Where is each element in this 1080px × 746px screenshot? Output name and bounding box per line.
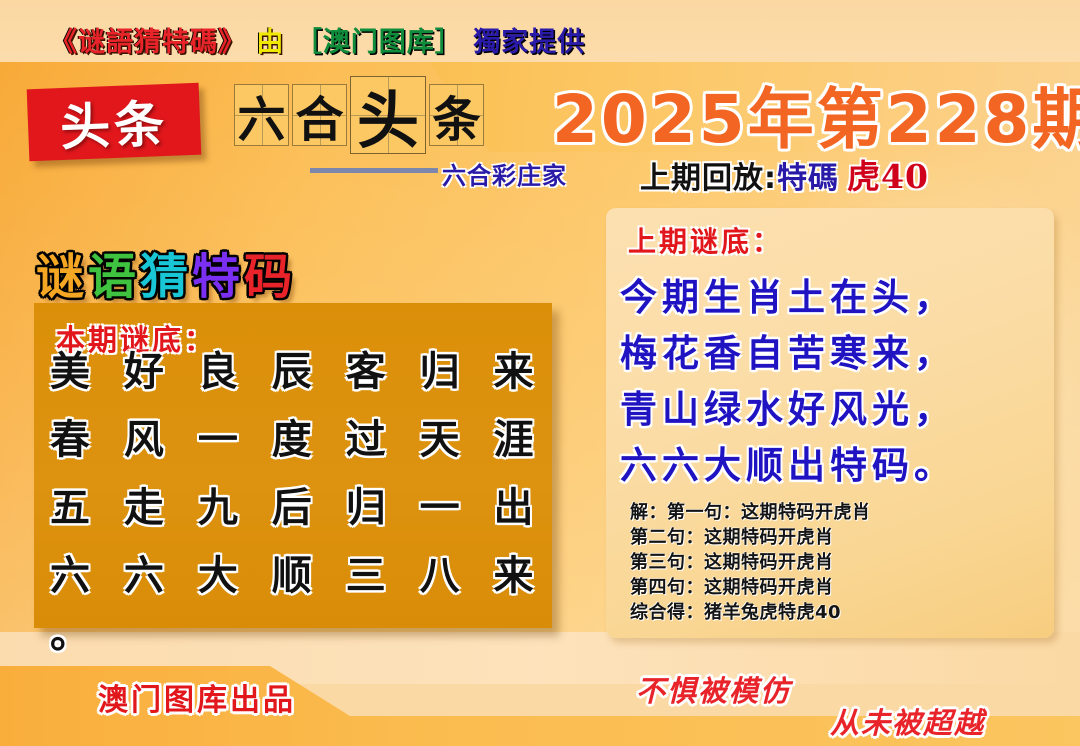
last-draw-recall: 上期回放:特碼虎40 bbox=[640, 150, 929, 198]
footer-slogan-line2: 从未被超越 bbox=[830, 700, 985, 742]
recall-code-label: 特碼 bbox=[777, 161, 839, 196]
note-line: 第三句：这期特码开虎肖 bbox=[630, 548, 1040, 573]
answer-line: 六六大顺出特码。 bbox=[620, 434, 1040, 490]
note-line: 第四句：这期特码开虎肖 bbox=[630, 573, 1040, 598]
footer-slogan-line1: 不惧被模仿 bbox=[636, 668, 791, 710]
previous-answer-title: 上期谜底： bbox=[628, 220, 783, 260]
brand-grid-word: 六 合 头 条 bbox=[234, 84, 484, 154]
marquee-part-source: ［澳门图库］ bbox=[295, 20, 463, 59]
rainbow-char: 猜 bbox=[140, 249, 192, 305]
recall-label: 上期回放: bbox=[640, 161, 777, 196]
note-line: 第二句：这期特码开虎肖 bbox=[630, 523, 1040, 548]
grid-char: 六 bbox=[235, 85, 288, 145]
answer-line: 梅花香自苦寒来， bbox=[620, 322, 1040, 378]
current-riddle-panel: 本期谜底： 美 好 良 辰 客 归 来 ， 春 风 一 度 过 天 涯 ， 五 … bbox=[34, 303, 552, 628]
answer-line: 青山绿水好风光， bbox=[620, 378, 1040, 434]
top-marquee-line: 《谜語猜特碼》 由 ［澳门图库］ 獨家提供 bbox=[50, 20, 585, 59]
grid-cell: 合 bbox=[292, 84, 347, 146]
rainbow-char: 特 bbox=[192, 249, 244, 305]
headline-badge: 头条 bbox=[27, 83, 202, 162]
grid-cell: 六 bbox=[234, 84, 289, 146]
rainbow-heading: 谜语猜特码 bbox=[36, 237, 296, 307]
answer-line: 今期生肖土在头， bbox=[620, 266, 1040, 322]
riddle-line: 六 六 大 顺 三 八 来 。 bbox=[34, 567, 552, 635]
note-line: 解：第一句：这期特码开虎肖 bbox=[630, 498, 1040, 523]
grid-cell: 条 bbox=[429, 84, 484, 146]
previous-answer-panel: 上期谜底： 今期生肖土在头， 梅花香自苦寒来， 青山绿水好风光， 六六大顺出特码… bbox=[606, 208, 1054, 638]
rainbow-char: 谜 bbox=[36, 249, 88, 305]
grid-char: 合 bbox=[293, 85, 346, 145]
current-riddle-lines: 美 好 良 辰 客 归 来 ， 春 风 一 度 过 天 涯 ， 五 走 九 后 … bbox=[34, 363, 552, 635]
marquee-part-title: 《谜語猜特碼》 bbox=[50, 20, 246, 59]
rainbow-char: 语 bbox=[88, 249, 140, 305]
grid-char: 条 bbox=[430, 85, 483, 145]
note-line: 综合得：猪羊兔虎特虎40 bbox=[630, 598, 1040, 623]
brand-subline: 六合彩庄家 bbox=[442, 156, 567, 191]
rainbow-char: 码 bbox=[244, 249, 296, 305]
subline-divider bbox=[310, 168, 438, 173]
previous-answer-notes: 解：第一句：这期特码开虎肖 第二句：这期特码开虎肖 第三句：这期特码开虎肖 第四… bbox=[630, 498, 1040, 623]
previous-answer-lines: 今期生肖土在头， 梅花香自苦寒来， 青山绿水好风光， 六六大顺出特码。 bbox=[620, 266, 1040, 490]
headline-badge-label: 头条 bbox=[27, 83, 202, 162]
footer-producer: 澳门图库出品 bbox=[98, 675, 296, 719]
marquee-part-exclusive: 獨家提供 bbox=[473, 20, 585, 59]
recall-result: 虎40 bbox=[847, 157, 929, 196]
poster-canvas: 《谜語猜特碼》 由 ［澳门图库］ 獨家提供 头条 六 合 头 条 六合彩庄家 2… bbox=[0, 0, 1080, 746]
grid-cell: 头 bbox=[350, 76, 426, 154]
grid-char: 头 bbox=[351, 77, 425, 153]
marquee-part-by: 由 bbox=[256, 20, 284, 59]
issue-title: 2025年第228期 bbox=[552, 66, 1080, 162]
